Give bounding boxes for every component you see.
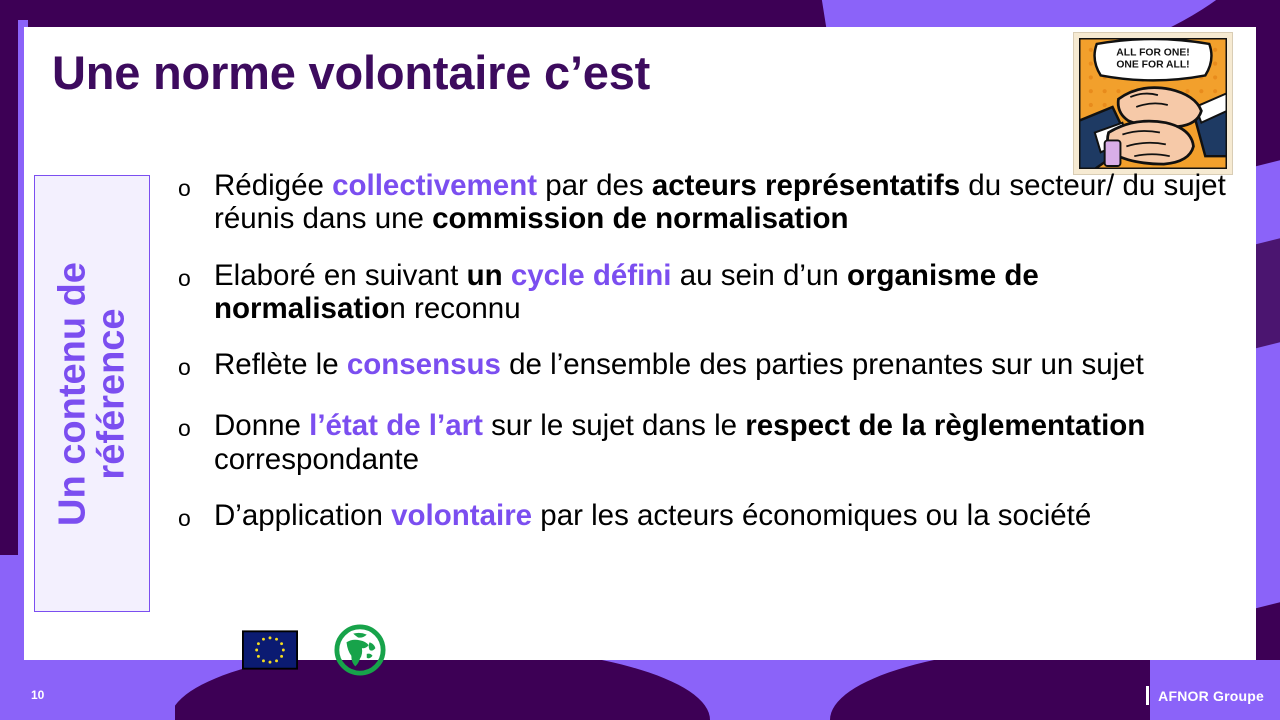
bullet-text-segment: Reflète le bbox=[214, 348, 347, 381]
bullet-item: oRédigée collectivement par des acteurs … bbox=[174, 169, 1234, 236]
brand-divider-icon bbox=[1146, 686, 1149, 705]
bullet-text: D’application volontaire par les acteurs… bbox=[214, 499, 1234, 532]
brand-footer: AFNOR Groupe bbox=[1146, 686, 1264, 705]
bullet-marker-icon: o bbox=[174, 259, 214, 297]
bullet-marker-icon: o bbox=[174, 499, 214, 537]
bullet-text: Donne l’état de l’art sur le sujet dans … bbox=[214, 409, 1234, 476]
page-number: 10 bbox=[31, 688, 44, 702]
bullet-marker-icon: o bbox=[174, 169, 214, 207]
bullet-text-segment: l’état de l’art bbox=[309, 409, 483, 442]
bullet-text-segment: D’application bbox=[214, 499, 391, 532]
all-for-one-handshake-comic: ALL FOR ONE! ONE FOR ALL! bbox=[1073, 32, 1233, 175]
bullet-text: Rédigée collectivement par des acteurs r… bbox=[214, 169, 1234, 236]
bullet-text-segment: correspondante bbox=[214, 443, 419, 476]
brand-name: AFNOR Groupe bbox=[1158, 688, 1264, 704]
bullet-text-segment: respect de la règlementation bbox=[745, 409, 1145, 442]
bullet-text-segment: acteurs représentatifs bbox=[652, 169, 960, 202]
page-title: Une norme volontaire c’est bbox=[52, 45, 650, 100]
bullet-text-segment: n reconnu bbox=[389, 292, 520, 325]
logo-row bbox=[242, 624, 386, 676]
bullet-text-segment: Donne bbox=[214, 409, 309, 442]
bullet-text-segment: collectivement bbox=[332, 169, 537, 202]
bullet-text-segment: au sein d’un bbox=[672, 259, 848, 292]
content-card: Une norme volontaire c’est bbox=[24, 27, 1256, 660]
bullet-item: oReflète le consensus de l’ensemble des … bbox=[174, 348, 1234, 386]
bullet-item: oD’application volontaire par les acteur… bbox=[174, 499, 1234, 537]
bullet-text-segment: un bbox=[467, 259, 511, 292]
bullet-text-segment: de l’ensemble des parties prenantes sur … bbox=[501, 348, 1144, 381]
bullet-text-segment: Elaboré en suivant bbox=[214, 259, 467, 292]
globe-icon bbox=[334, 624, 386, 676]
bullet-item: oElaboré en suivant un cycle défini au s… bbox=[174, 259, 1234, 326]
comic-speech-line1: ALL FOR ONE! bbox=[1116, 48, 1189, 59]
side-label-line-1: Un contenu de bbox=[51, 262, 93, 526]
side-label-box: Un contenu de référence bbox=[34, 175, 150, 612]
comic-illustration-icon: ALL FOR ONE! ONE FOR ALL! bbox=[1079, 38, 1227, 169]
side-label-text: Un contenu de référence bbox=[53, 179, 131, 609]
bullet-text-segment: par les acteurs économiques ou la sociét… bbox=[532, 499, 1091, 532]
bullet-text-segment: cycle défini bbox=[511, 259, 672, 292]
bullet-text-segment: commission de normalisation bbox=[432, 202, 848, 235]
slide-canvas: Une norme volontaire c’est bbox=[0, 0, 1280, 720]
bullet-text: Reflète le consensus de l’ensemble des p… bbox=[214, 348, 1234, 381]
bullet-text-segment: par des bbox=[537, 169, 652, 202]
bottom-left-fill bbox=[0, 660, 175, 720]
bullet-text-segment: volontaire bbox=[391, 499, 532, 532]
eu-flag-icon bbox=[242, 630, 298, 670]
comic-speech-line2: ONE FOR ALL! bbox=[1116, 60, 1189, 71]
bullet-text-segment: sur le sujet dans le bbox=[483, 409, 745, 442]
bullet-item: oDonne l’état de l’art sur le sujet dans… bbox=[174, 409, 1234, 476]
bullet-text-segment: Rédigée bbox=[214, 169, 332, 202]
bullet-text-segment: consensus bbox=[347, 348, 501, 381]
bullet-marker-icon: o bbox=[174, 409, 214, 447]
bullet-marker-icon: o bbox=[174, 348, 214, 386]
side-label-line-2: référence bbox=[92, 179, 131, 609]
bullet-text: Elaboré en suivant un cycle défini au se… bbox=[214, 259, 1234, 326]
bullet-list: oRédigée collectivement par des acteurs … bbox=[174, 169, 1234, 537]
